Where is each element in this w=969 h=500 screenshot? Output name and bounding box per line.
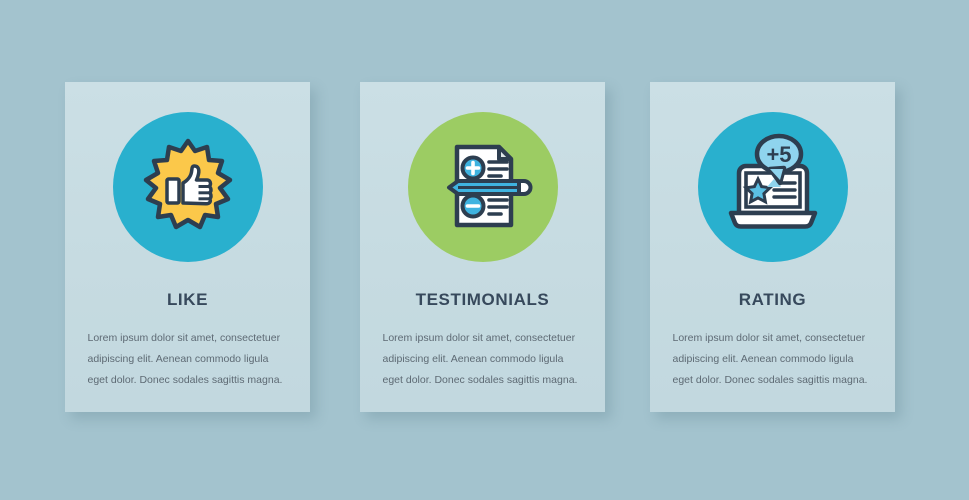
card-title: LIKE — [167, 290, 208, 310]
laptop-star-rating-icon: +5 — [717, 131, 829, 243]
card-body-text: Lorem ipsum dolor sit amet, consectetuer… — [88, 328, 288, 391]
icon-circle-rating: +5 — [698, 112, 848, 262]
feature-card-like[interactable]: LIKE Lorem ipsum dolor sit amet, consect… — [65, 82, 310, 412]
documents-pencil-icon — [431, 135, 535, 239]
page-root: LIKE Lorem ipsum dolor sit amet, consect… — [0, 0, 969, 500]
feature-card-testimonials[interactable]: TESTIMONIALS Lorem ipsum dolor sit amet,… — [360, 82, 605, 412]
icon-circle-testimonials — [408, 112, 558, 262]
feature-card-rating[interactable]: +5 RATING Lorem ipsum dolor sit amet, co… — [650, 82, 895, 412]
thumbs-up-badge-icon — [136, 135, 240, 239]
icon-circle-like — [113, 112, 263, 262]
icon-container-rating: +5 — [698, 112, 848, 262]
card-body-text: Lorem ipsum dolor sit amet, consectetuer… — [383, 328, 583, 391]
card-body-text: Lorem ipsum dolor sit amet, consectetuer… — [673, 328, 873, 391]
card-title: RATING — [739, 290, 807, 310]
icon-container-testimonials — [408, 112, 558, 262]
card-title: TESTIMONIALS — [416, 290, 550, 310]
rating-badge-label: +5 — [766, 142, 791, 167]
icon-container-like — [113, 112, 263, 262]
